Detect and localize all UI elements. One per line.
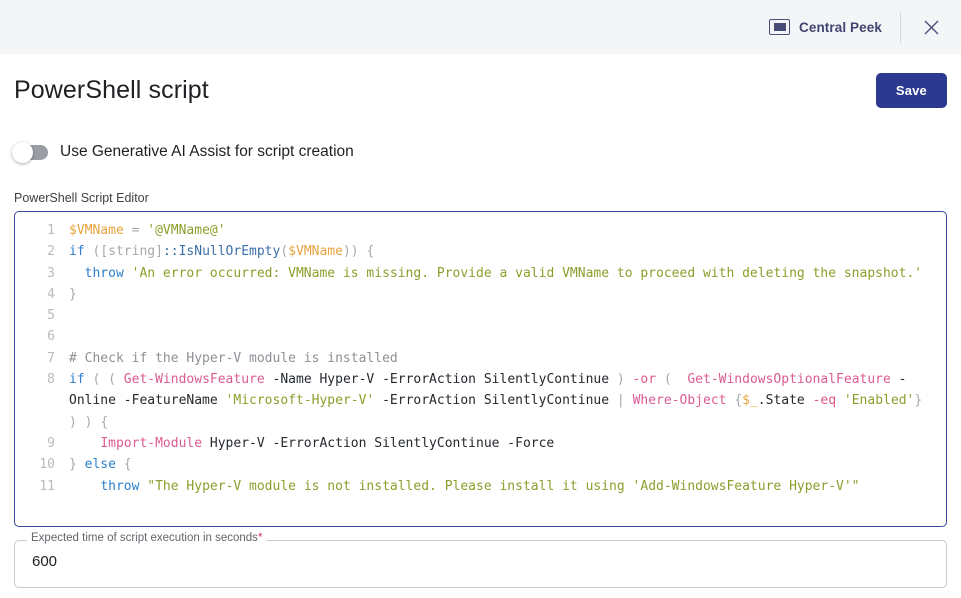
code-token: -Name Hyper-V -ErrorAction SilentlyConti… bbox=[265, 372, 617, 387]
close-icon bbox=[923, 19, 940, 36]
code-token: } bbox=[914, 393, 922, 408]
code-token bbox=[69, 266, 85, 281]
code-token: ( bbox=[108, 372, 116, 387]
expected-time-label-text: Expected time of script execution in sec… bbox=[31, 532, 258, 544]
code-token: } bbox=[69, 287, 77, 302]
code-text[interactable] bbox=[69, 326, 946, 347]
code-line: 11 throw "The Hyper-V module is not inst… bbox=[15, 476, 946, 497]
screen-icon bbox=[769, 19, 790, 35]
line-number: 8 bbox=[15, 369, 69, 433]
code-text[interactable]: if ([string]::IsNullOrEmpty($VMName)) { bbox=[69, 241, 946, 262]
code-token: if bbox=[69, 244, 85, 259]
editor-caption: PowerShell Script Editor bbox=[14, 191, 947, 205]
code-token: { bbox=[734, 393, 742, 408]
code-token bbox=[69, 479, 100, 494]
ai-assist-toggle-row: Use Generative AI Assist for script crea… bbox=[14, 143, 947, 161]
code-token bbox=[124, 223, 132, 238]
code-token: # Check if the Hyper-V module is install… bbox=[69, 351, 398, 366]
code-token bbox=[922, 393, 930, 408]
code-token bbox=[69, 436, 100, 451]
code-token: Hyper-V -ErrorAction SilentlyContinue -F… bbox=[202, 436, 554, 451]
code-line: 1$VMName = '@VMName@' bbox=[15, 220, 946, 241]
code-token: '@VMName@' bbox=[147, 223, 225, 238]
central-peek-label: Central Peek bbox=[799, 20, 882, 35]
code-line: 8if ( ( Get-WindowsFeature -Name Hyper-V… bbox=[15, 369, 946, 433]
code-text[interactable]: if ( ( Get-WindowsFeature -Name Hyper-V … bbox=[69, 369, 946, 433]
code-token: Import-Module bbox=[100, 436, 202, 451]
line-number: 5 bbox=[15, 305, 69, 326]
line-number: 7 bbox=[15, 348, 69, 369]
line-number: 2 bbox=[15, 241, 69, 262]
code-token: Get-WindowsFeature bbox=[124, 372, 265, 387]
code-token bbox=[124, 266, 132, 281]
line-number: 4 bbox=[15, 284, 69, 305]
expected-time-label: Expected time of script execution in sec… bbox=[27, 532, 266, 544]
code-token bbox=[77, 457, 85, 472]
code-token: ( bbox=[280, 244, 288, 259]
code-line: 7# Check if the Hyper-V module is instal… bbox=[15, 348, 946, 369]
toggle-knob bbox=[12, 142, 33, 163]
code-token: throw bbox=[85, 266, 124, 281]
powershell-script-editor[interactable]: 1$VMName = '@VMName@'2if ([string]::IsNu… bbox=[14, 211, 947, 527]
code-token bbox=[625, 372, 633, 387]
code-line: 9 Import-Module Hyper-V -ErrorAction Sil… bbox=[15, 433, 946, 454]
code-token: 'Enabled' bbox=[844, 393, 914, 408]
code-token bbox=[77, 415, 85, 430]
ai-assist-toggle[interactable] bbox=[14, 145, 48, 160]
code-token: Where-Object bbox=[633, 393, 727, 408]
field-outline bbox=[14, 540, 947, 588]
code-token: $_ bbox=[742, 393, 758, 408]
code-token bbox=[656, 372, 664, 387]
code-token: Get-WindowsOptionalFeature bbox=[687, 372, 891, 387]
code-token bbox=[625, 393, 633, 408]
line-number: 11 bbox=[15, 476, 69, 497]
required-asterisk: * bbox=[258, 532, 262, 544]
expected-time-field[interactable]: Expected time of script execution in sec… bbox=[14, 540, 947, 588]
code-text[interactable]: } else { bbox=[69, 454, 946, 475]
code-token: [string] bbox=[100, 244, 163, 259]
code-text[interactable]: throw 'An error occurred: VMName is miss… bbox=[69, 263, 946, 284]
code-text[interactable]: # Check if the Hyper-V module is install… bbox=[69, 348, 946, 369]
code-token bbox=[100, 372, 108, 387]
code-token: )) bbox=[343, 244, 359, 259]
line-number: 1 bbox=[15, 220, 69, 241]
code-token: $VMName bbox=[288, 244, 343, 259]
panel-body: PowerShell script Save Use Generative AI… bbox=[0, 54, 961, 598]
window-top-bar: Central Peek bbox=[0, 0, 961, 54]
code-text[interactable]: Import-Module Hyper-V -ErrorAction Silen… bbox=[69, 433, 946, 454]
code-text[interactable] bbox=[69, 305, 946, 326]
line-number: 6 bbox=[15, 326, 69, 347]
code-token: -ErrorAction SilentlyContinue bbox=[374, 393, 617, 408]
central-peek-indicator[interactable]: Central Peek bbox=[769, 19, 900, 35]
code-token bbox=[672, 372, 688, 387]
code-token: 'Microsoft-Hyper-V' bbox=[226, 393, 375, 408]
line-number: 9 bbox=[15, 433, 69, 454]
code-line: 2if ([string]::IsNullOrEmpty($VMName)) { bbox=[15, 241, 946, 262]
code-token: .State bbox=[758, 393, 813, 408]
page-header: PowerShell script Save bbox=[14, 54, 947, 108]
code-token: { bbox=[366, 244, 374, 259]
code-line: 5 bbox=[15, 305, 946, 326]
code-line: 3 throw 'An error occurred: VMName is mi… bbox=[15, 263, 946, 284]
code-token: if bbox=[69, 372, 85, 387]
code-token bbox=[836, 393, 844, 408]
close-button[interactable] bbox=[901, 0, 961, 54]
code-token bbox=[116, 372, 124, 387]
code-line: 6 bbox=[15, 326, 946, 347]
line-number: 3 bbox=[15, 263, 69, 284]
code-token: "The Hyper-V module is not installed. Pl… bbox=[147, 479, 859, 494]
code-token: | bbox=[617, 393, 625, 408]
code-token: } bbox=[69, 457, 77, 472]
code-token bbox=[116, 457, 124, 472]
code-token: { bbox=[124, 457, 132, 472]
code-line: 10} else { bbox=[15, 454, 946, 475]
line-number: 10 bbox=[15, 454, 69, 475]
code-token: -eq bbox=[813, 393, 836, 408]
code-token: -or bbox=[633, 372, 656, 387]
code-token: 'An error occurred: VMName is missing. P… bbox=[132, 266, 923, 281]
code-token: ( bbox=[664, 372, 672, 387]
code-text[interactable]: $VMName = '@VMName@' bbox=[69, 220, 946, 241]
expected-time-input[interactable]: 600 bbox=[32, 553, 57, 570]
code-text[interactable]: throw "The Hyper-V module is not install… bbox=[69, 476, 946, 497]
ai-assist-label: Use Generative AI Assist for script crea… bbox=[60, 143, 354, 161]
code-token: ) bbox=[69, 415, 77, 430]
code-token: throw bbox=[100, 479, 139, 494]
save-button[interactable]: Save bbox=[876, 73, 947, 108]
code-token: else bbox=[85, 457, 116, 472]
code-token: ) bbox=[617, 372, 625, 387]
code-text[interactable]: } bbox=[69, 284, 946, 305]
page-title: PowerShell script bbox=[14, 76, 209, 105]
code-token: { bbox=[100, 415, 108, 430]
code-token: ::IsNullOrEmpty bbox=[163, 244, 280, 259]
code-line: 4} bbox=[15, 284, 946, 305]
code-token: $VMName bbox=[69, 223, 124, 238]
code-lines: 1$VMName = '@VMName@'2if ([string]::IsNu… bbox=[15, 220, 946, 497]
